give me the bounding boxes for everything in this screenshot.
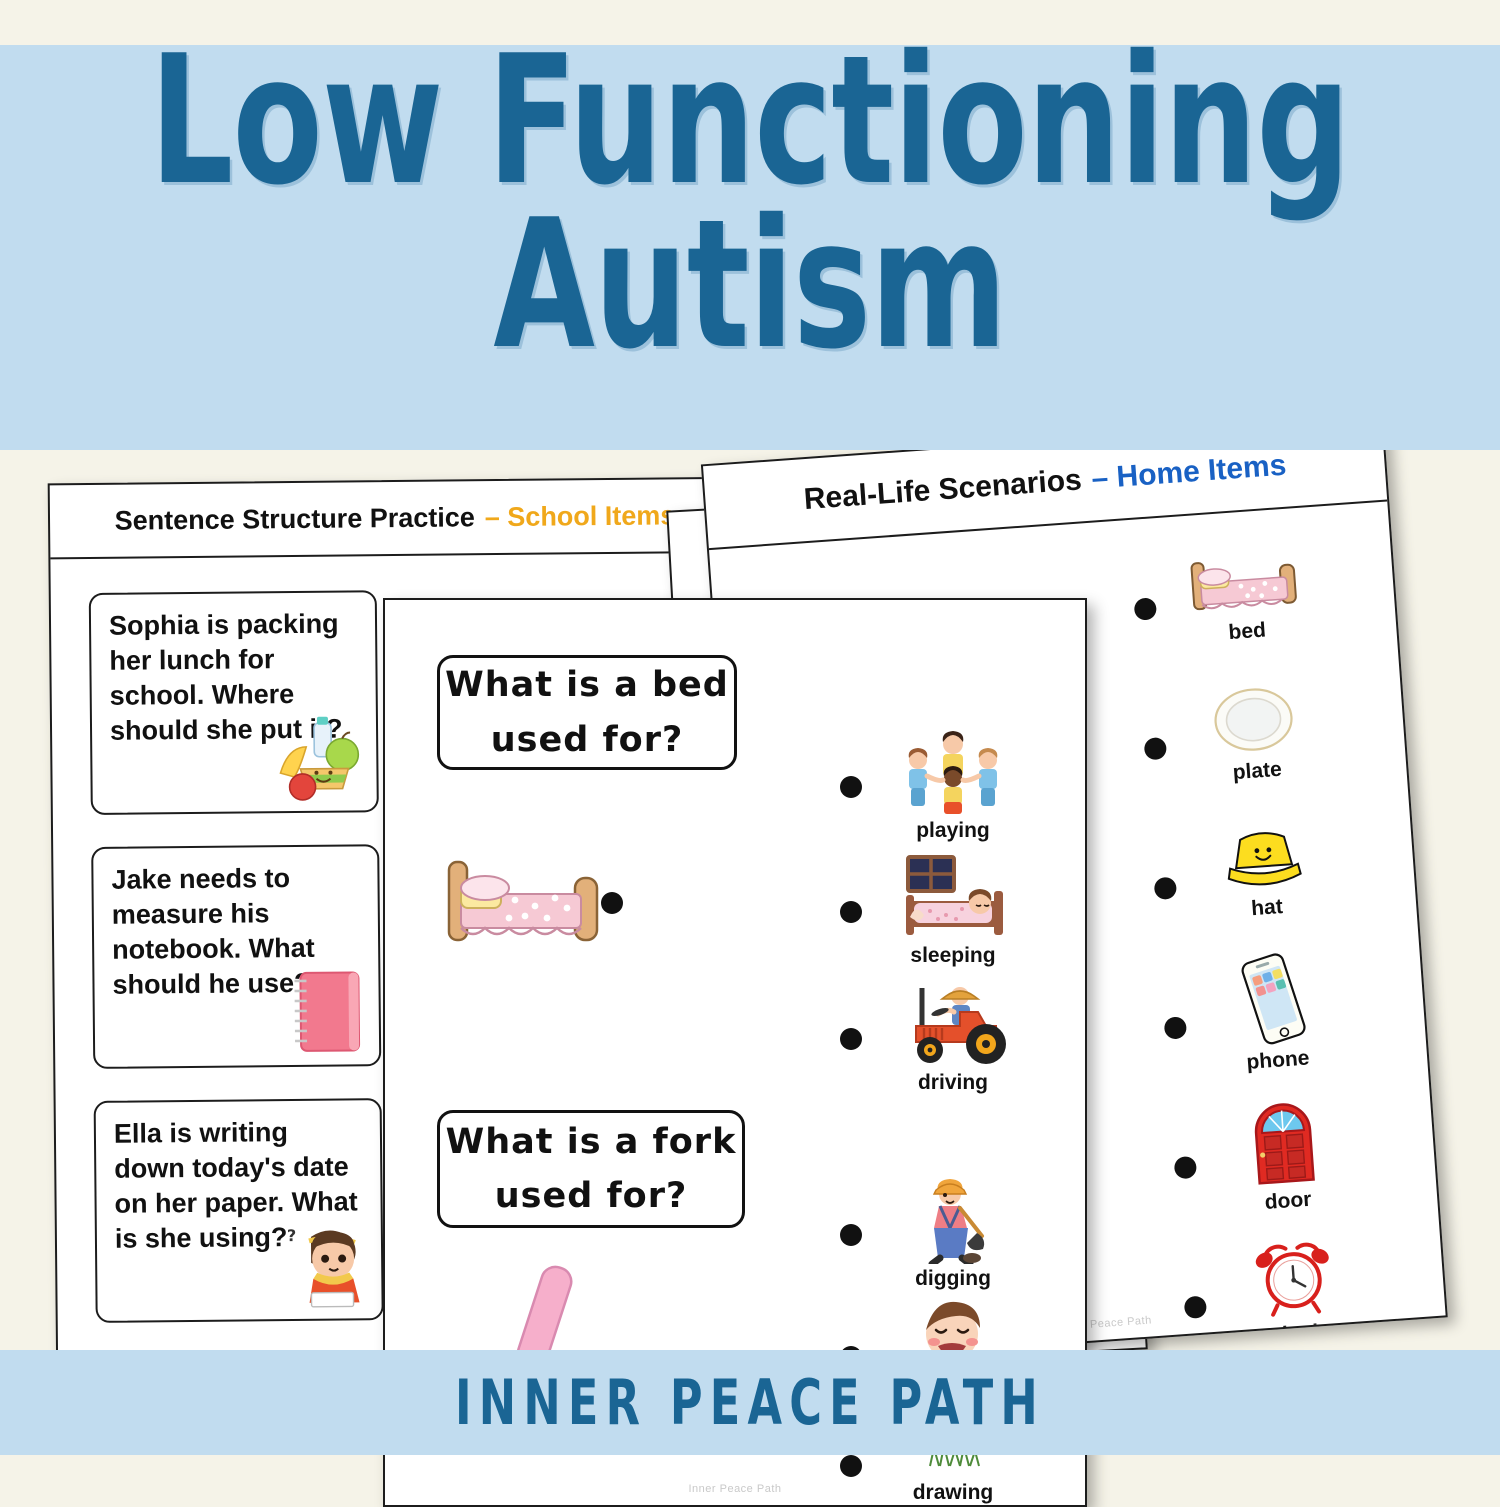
tractor-icon bbox=[894, 982, 1012, 1068]
choice-label: digging bbox=[915, 1267, 991, 1291]
school-title-main: Sentence Structure Practice bbox=[115, 502, 475, 536]
home-item-figure: plate bbox=[1176, 678, 1333, 788]
home-title-main: Real-Life Scenarios bbox=[803, 463, 1083, 517]
list-item[interactable]: bed bbox=[1129, 516, 1368, 672]
school-worksheet-header: Sentence Structure Practice – School Ite… bbox=[50, 479, 741, 560]
match-dot[interactable] bbox=[1164, 1016, 1188, 1040]
choice-label: sleeping bbox=[910, 944, 995, 968]
choice-figure: playing bbox=[878, 730, 1028, 843]
home-item-figure: clock bbox=[1216, 1233, 1373, 1351]
list-item[interactable]: sleeping bbox=[840, 855, 1028, 968]
choice-label: playing bbox=[916, 819, 990, 843]
home-items-column: bed plate bbox=[1129, 516, 1418, 1367]
list-item[interactable]: playing bbox=[840, 730, 1028, 843]
prompt-line-2: used for? bbox=[495, 1169, 688, 1223]
home-item-label: phone bbox=[1246, 1046, 1311, 1074]
match-dot[interactable] bbox=[840, 1224, 862, 1246]
prompt-card-fork[interactable]: What is a fork used for? bbox=[437, 1110, 745, 1228]
door-icon bbox=[1245, 1089, 1322, 1188]
list-item[interactable]: phone bbox=[1159, 935, 1398, 1091]
question-card-icon bbox=[276, 710, 369, 803]
choice-label: driving bbox=[918, 1071, 988, 1095]
subject-bed-figure bbox=[443, 848, 603, 963]
match-dot[interactable] bbox=[1134, 597, 1158, 621]
match-dot[interactable] bbox=[840, 776, 862, 798]
choice-figure: digging bbox=[878, 1178, 1028, 1291]
list-item[interactable]: hat bbox=[1149, 795, 1388, 951]
prompt-line-1: What is a fork bbox=[446, 1115, 737, 1169]
question-card-icon: ? bbox=[281, 1218, 374, 1311]
match-dot[interactable] bbox=[1154, 877, 1178, 901]
list-item[interactable]: digging bbox=[840, 1178, 1028, 1291]
question-card[interactable]: Sophia is packing her lunch for school. … bbox=[89, 590, 379, 815]
question-card-icon bbox=[278, 964, 371, 1057]
prompt-line-1: What is a bed bbox=[445, 658, 729, 712]
brand-name: INNER PEACE PATH bbox=[150, 1350, 1350, 1455]
match-dot-bed[interactable] bbox=[601, 892, 623, 914]
digging-worker-icon bbox=[894, 1178, 1012, 1264]
list-item[interactable]: driving bbox=[840, 982, 1028, 1095]
notebook-icon bbox=[278, 964, 371, 1057]
home-item-label: bed bbox=[1228, 619, 1267, 646]
prompt-card-bed[interactable]: What is a bed used for? bbox=[437, 655, 737, 770]
question-card[interactable]: Ella is writing down today's date on her… bbox=[94, 1098, 384, 1323]
hat-icon bbox=[1215, 823, 1311, 895]
plate-icon bbox=[1208, 681, 1299, 759]
thinking-girl-icon: ? bbox=[281, 1218, 374, 1311]
match-dot[interactable] bbox=[840, 1455, 862, 1477]
bed-icon bbox=[443, 848, 603, 958]
choice-figure: driving bbox=[878, 982, 1028, 1095]
home-title-accent: – Home Items bbox=[1090, 449, 1287, 497]
match-dot[interactable] bbox=[840, 1028, 862, 1050]
bed-icon bbox=[1186, 540, 1301, 620]
sleeping-child-icon bbox=[894, 855, 1012, 941]
title-banner bbox=[0, 45, 1500, 450]
prompt-line-2: used for? bbox=[491, 713, 684, 767]
poster-canvas: Inner Peace Path Real-Life Scenarios – H… bbox=[0, 0, 1500, 1500]
home-item-label: door bbox=[1264, 1188, 1312, 1215]
home-item-label: plate bbox=[1232, 758, 1283, 785]
home-item-figure: bed bbox=[1166, 539, 1323, 649]
home-item-figure: phone bbox=[1195, 948, 1353, 1078]
match-dot[interactable] bbox=[1144, 737, 1168, 761]
school-title-accent: – School Items bbox=[485, 500, 676, 533]
lunch-icon bbox=[276, 710, 369, 803]
question-card[interactable]: Jake needs to measure his notebook. What… bbox=[91, 844, 381, 1069]
list-item[interactable]: door bbox=[1169, 1074, 1408, 1230]
home-item-figure: hat bbox=[1186, 821, 1342, 925]
svg-text:?: ? bbox=[287, 1226, 296, 1245]
home-item-figure: door bbox=[1205, 1086, 1363, 1218]
match-dot[interactable] bbox=[840, 901, 862, 923]
list-item[interactable]: clock bbox=[1179, 1214, 1418, 1366]
choice-figure: sleeping bbox=[878, 855, 1028, 968]
home-item-label: clock bbox=[1270, 1320, 1325, 1348]
home-item-label: hat bbox=[1250, 895, 1283, 921]
children-playing-icon bbox=[894, 730, 1012, 816]
match-dot[interactable] bbox=[1174, 1156, 1198, 1180]
phone-icon bbox=[1239, 951, 1307, 1047]
sheet-footer-note: Inner Peace Path bbox=[385, 1483, 1085, 1495]
list-item[interactable]: plate bbox=[1139, 655, 1378, 811]
